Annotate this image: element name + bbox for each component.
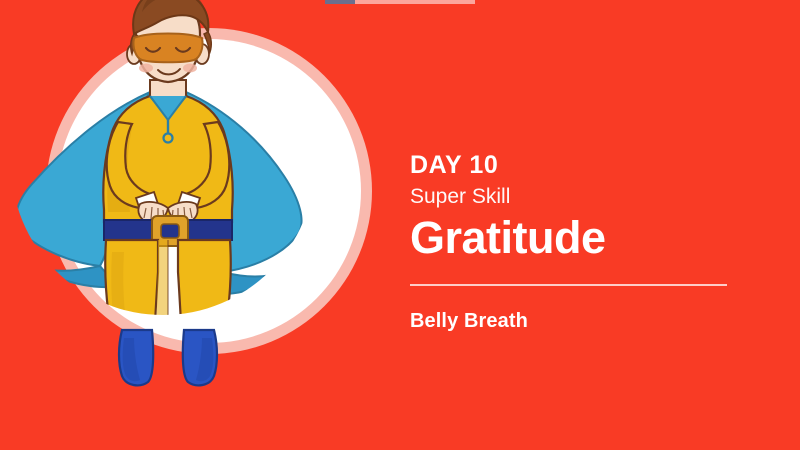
super-skill-label: Super Skill (410, 184, 750, 210)
subtitle-label: Belly Breath (410, 308, 528, 334)
day-label: DAY 10 (410, 150, 750, 180)
divider (410, 284, 727, 286)
page-title: Gratitude (410, 212, 750, 264)
slide-text-block: DAY 10 Super Skill Gratitude (410, 150, 750, 264)
illustration-circle (46, 28, 372, 354)
video-progress-fill (325, 0, 355, 4)
video-seek-bar[interactable] (325, 0, 475, 4)
circle-disc (57, 39, 361, 343)
slide-canvas: DAY 10 Super Skill Gratitude Belly Breat… (0, 0, 800, 450)
